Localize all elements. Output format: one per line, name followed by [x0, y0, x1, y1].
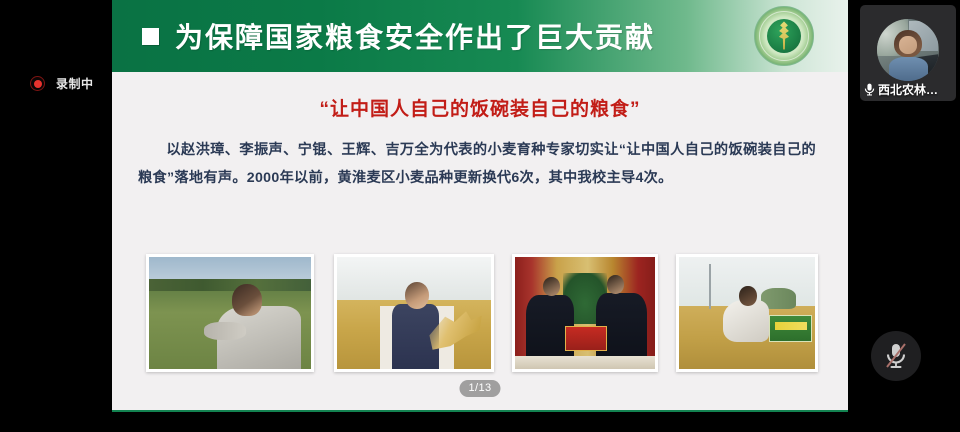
meeting-screen: 录制中 为保障国家粮食安全作出了巨大贡献 “让中国人自己的饭碗装自己的粮食” 以…	[0, 0, 960, 432]
recording-label: 录制中	[56, 75, 94, 92]
recording-dot-icon	[30, 76, 45, 91]
square-bullet-icon	[142, 28, 159, 45]
participant-footer: 西北农林…	[860, 81, 956, 98]
photo-award-ceremony	[512, 254, 658, 372]
photo-field-inspection-sign	[676, 254, 818, 372]
slide-page-indicator: 1/13	[459, 380, 500, 397]
participant-avatar	[877, 19, 939, 81]
mute-button[interactable]	[871, 331, 921, 381]
slide-photo-strip	[112, 250, 848, 380]
university-emblem-icon	[754, 6, 814, 66]
slide-body-paragraph: 以赵洪璋、李振声、宁锟、王辉、吉万全为代表的小麦育种专家切实让“让中国人自己的饭…	[138, 137, 816, 192]
participant-video-tile[interactable]: 西北农林…	[860, 5, 956, 101]
photo-scientist-green-wheat-field	[146, 254, 314, 372]
participant-name: 西北农林…	[878, 81, 938, 98]
slide-quote-heading: “让中国人自己的饭碗装自己的粮食”	[112, 94, 848, 121]
slide-title: 为保障国家粮食安全作出了巨大贡献	[175, 16, 655, 56]
shared-slide[interactable]: 为保障国家粮食安全作出了巨大贡献 “让中国人自己的饭碗装自己的粮食” 以赵洪璋、…	[112, 0, 848, 412]
microphone-muted-icon	[883, 341, 909, 371]
photo-scientist-holding-wheat	[334, 254, 494, 372]
recording-indicator: 录制中	[30, 75, 94, 92]
slide-header: 为保障国家粮食安全作出了巨大贡献	[112, 0, 848, 72]
microphone-icon	[864, 83, 875, 96]
